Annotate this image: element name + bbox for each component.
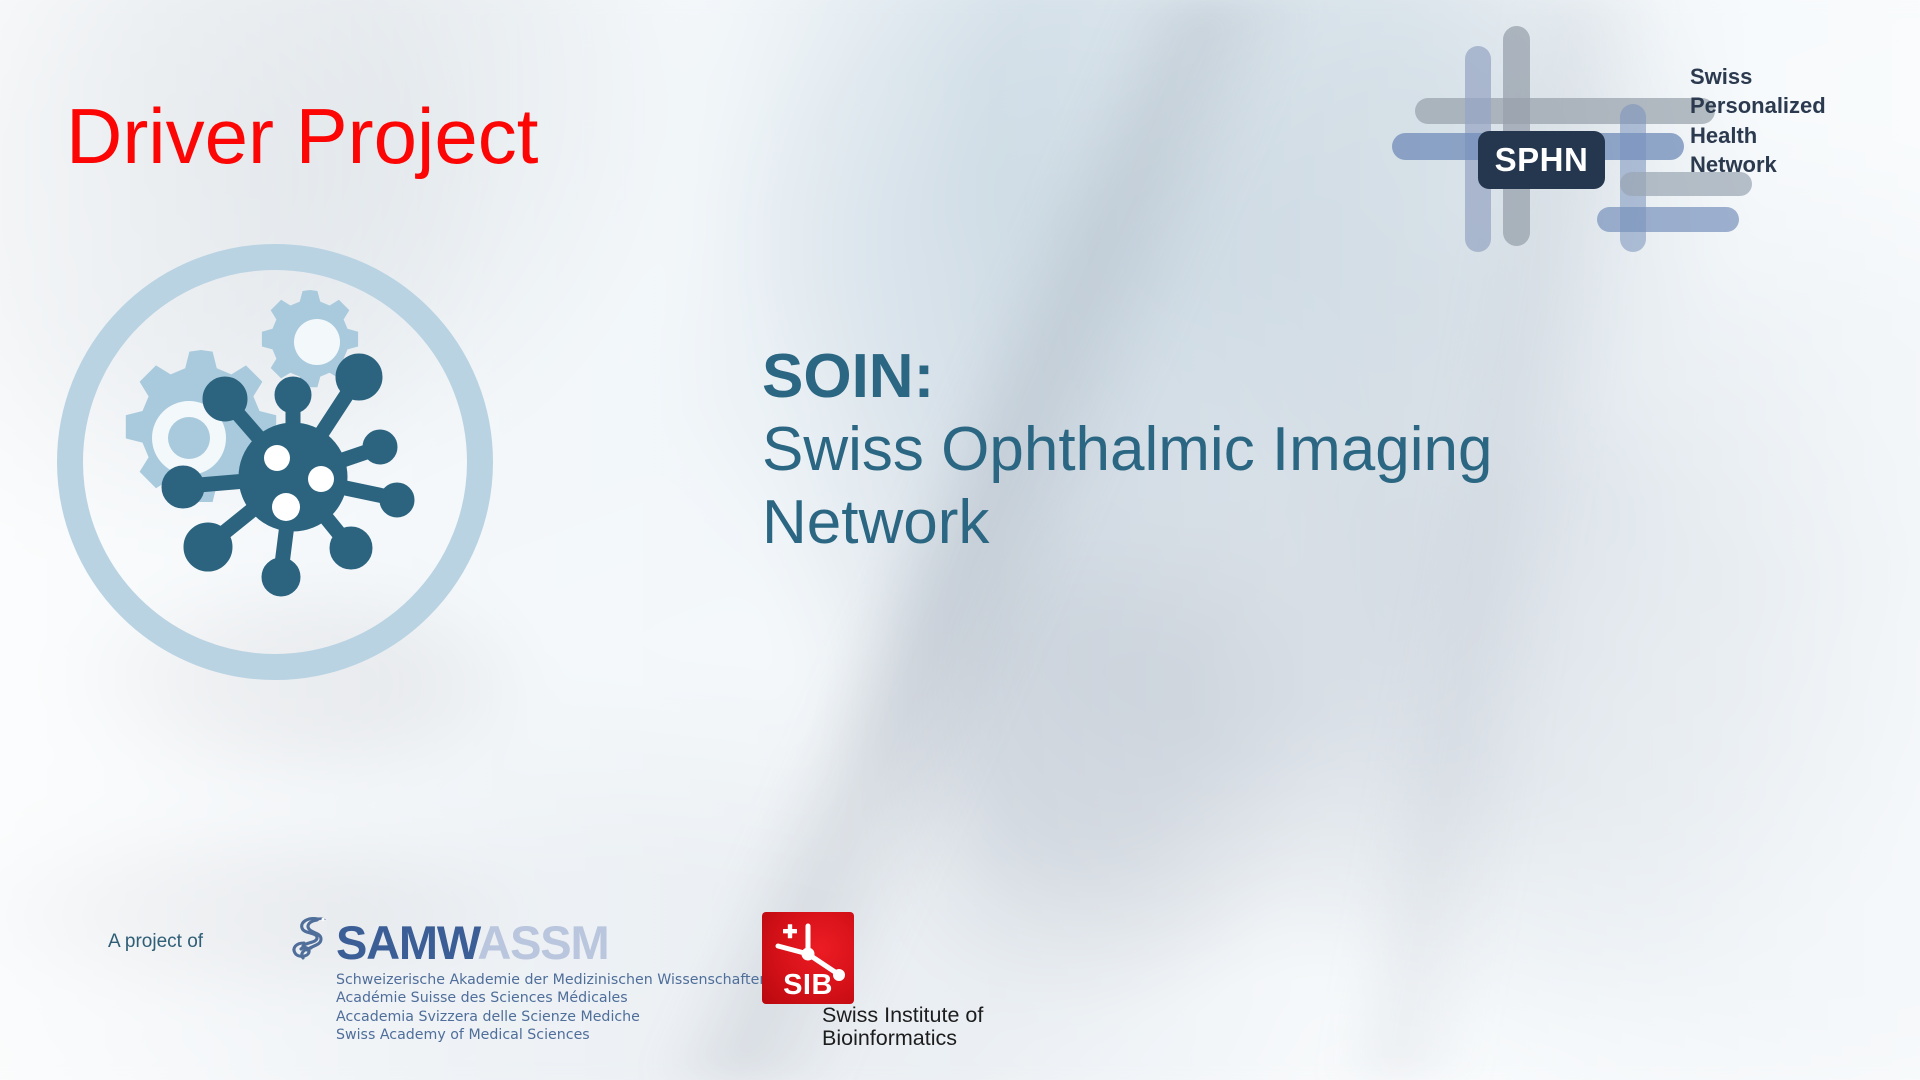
asclepius-snake-icon xyxy=(288,913,334,966)
samw-subtitle-lines: Schweizerische Akademie der Medizinische… xyxy=(336,971,708,1045)
samw-wordmark-row: SAMWASSM xyxy=(288,912,708,966)
page-title-acronym: SOIN: xyxy=(762,340,1702,413)
page-title: SOIN: Swiss Ophthalmic Imaging Network xyxy=(762,340,1702,559)
credit-label: A project of xyxy=(108,931,203,953)
samw-subtitle-en: Swiss Academy of Medical Sciences xyxy=(336,1026,708,1044)
sphn-wordmark: Swiss Personalized Health Network xyxy=(1690,62,1826,180)
sib-logo-mark: SIB xyxy=(762,912,854,1004)
samw-wordmark-fr: ASSM xyxy=(477,916,608,969)
sib-caption-line-2: Bioinformatics xyxy=(822,1027,983,1050)
sphn-wordmark-line-1: Swiss xyxy=(1690,62,1826,91)
samw-wordmark-de: SAMW xyxy=(336,916,477,969)
samw-wordmark: SAMWASSM xyxy=(336,919,608,966)
driver-project-label: Driver Project xyxy=(66,97,538,175)
gears-network-circle-icon xyxy=(45,232,505,692)
sib-caption: Swiss Institute of Bioinformatics xyxy=(822,1004,983,1050)
sphn-wordmark-line-4: Network xyxy=(1690,150,1826,179)
sphn-wordmark-line-2: Personalized xyxy=(1690,91,1826,120)
sphn-bar-horizontal-blue-bottom xyxy=(1597,207,1739,232)
sib-mark-text: SIB xyxy=(762,971,854,1000)
samw-subtitle-de: Schweizerische Akademie der Medizinische… xyxy=(336,971,708,989)
sib-caption-line-1: Swiss Institute of xyxy=(822,1004,983,1027)
slide-canvas: Driver Project SPHN Swiss Personalized H… xyxy=(0,0,1920,1080)
sphn-bar-horizontal-gray-top xyxy=(1415,98,1715,124)
page-title-expansion: Swiss Ophthalmic Imaging Network xyxy=(762,413,1702,559)
sphn-badge: SPHN xyxy=(1478,131,1605,189)
sphn-wordmark-line-3: Health xyxy=(1690,121,1826,150)
samw-subtitle-fr: Académie Suisse des Sciences Médicales xyxy=(336,989,708,1007)
samw-assm-logo: SAMWASSM Schweizerische Akademie der Med… xyxy=(288,912,708,1032)
samw-subtitle-it: Accademia Svizzera delle Scienze Mediche xyxy=(336,1008,708,1026)
sib-logo: SIB Swiss Institute of Bioinformatics xyxy=(762,912,992,1034)
